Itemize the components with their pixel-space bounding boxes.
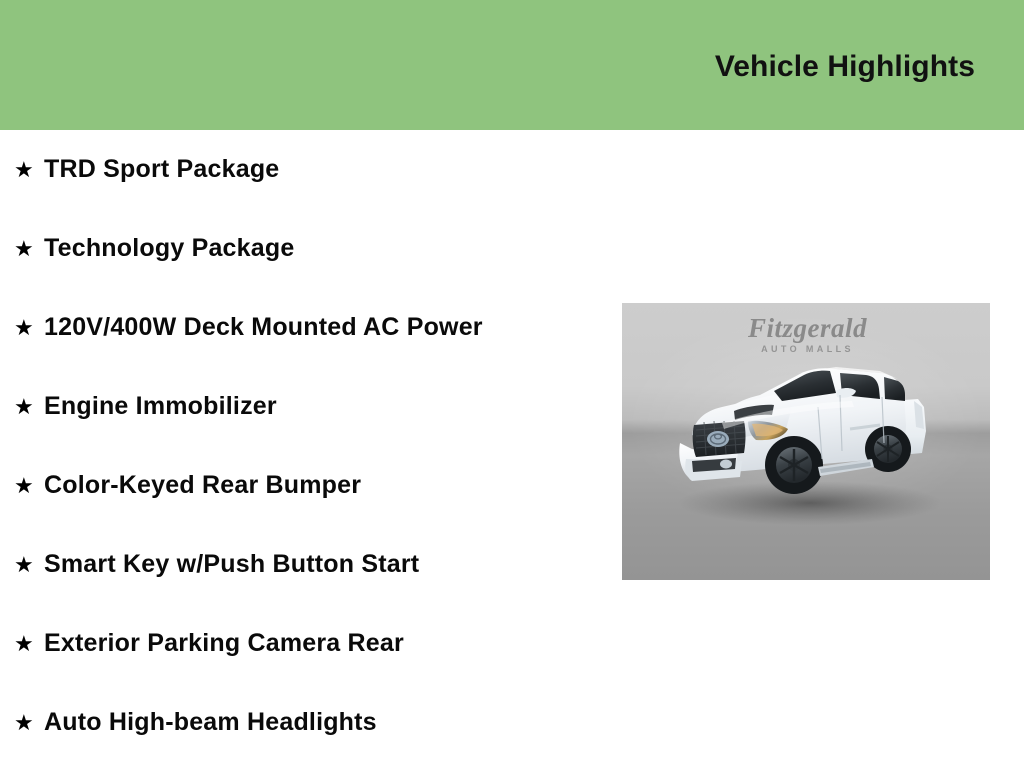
star-bullet-icon: ★ [14, 159, 44, 181]
vehicle-highlights-list: ★ TRD Sport Package ★ Technology Package… [0, 130, 620, 762]
list-item: ★ 120V/400W Deck Mounted AC Power [0, 288, 620, 367]
star-bullet-icon: ★ [14, 238, 44, 260]
highlight-label: 120V/400W Deck Mounted AC Power [44, 313, 483, 342]
highlight-label: Color-Keyed Rear Bumper [44, 471, 361, 500]
list-item: ★ TRD Sport Package [0, 130, 620, 209]
list-item: ★ Auto High-beam Headlights [0, 683, 620, 762]
page-title: Vehicle Highlights [715, 50, 975, 84]
list-item: ★ Smart Key w/Push Button Start [0, 525, 620, 604]
star-bullet-icon: ★ [14, 633, 44, 655]
list-item: ★ Engine Immobilizer [0, 367, 620, 446]
list-item: ★ Exterior Parking Camera Rear [0, 604, 620, 683]
star-bullet-icon: ★ [14, 396, 44, 418]
highlight-label: Technology Package [44, 234, 294, 263]
pickup-truck-illustration [622, 303, 990, 580]
highlight-label: Auto High-beam Headlights [44, 708, 377, 737]
star-bullet-icon: ★ [14, 475, 44, 497]
highlight-label: Smart Key w/Push Button Start [44, 550, 419, 579]
highlight-label: TRD Sport Package [44, 155, 279, 184]
highlight-label: Exterior Parking Camera Rear [44, 629, 404, 658]
header-band: Vehicle Highlights [0, 0, 1024, 130]
star-bullet-icon: ★ [14, 317, 44, 339]
highlight-label: Engine Immobilizer [44, 392, 277, 421]
vehicle-photo: Fitzgerald AUTO MALLS [622, 303, 990, 580]
list-item: ★ Color-Keyed Rear Bumper [0, 446, 620, 525]
star-bullet-icon: ★ [14, 712, 44, 734]
list-item: ★ Technology Package [0, 209, 620, 288]
star-bullet-icon: ★ [14, 554, 44, 576]
